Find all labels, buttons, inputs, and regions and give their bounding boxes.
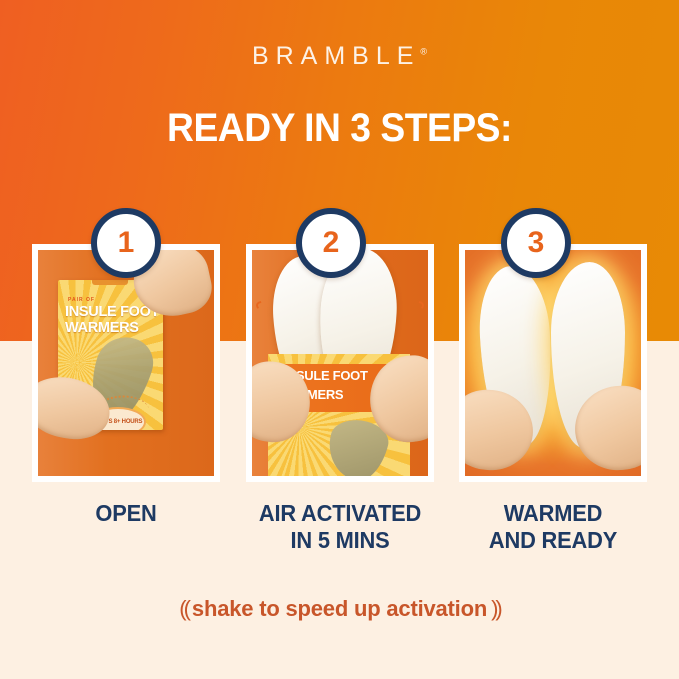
step-badge-3: 3 — [501, 208, 571, 278]
tagline-text: shake to speed up activation — [192, 596, 487, 621]
package-micro-text: PAIR OF — [68, 297, 95, 303]
shake-motion-lines-left-icon — [256, 290, 276, 332]
step-number-3: 3 — [528, 228, 545, 258]
step-1-scene: PAIR OF INSULE FOOT WARMERS LASTS 8+ HOU… — [38, 250, 214, 476]
package-title-line2: WARMERS — [65, 320, 139, 336]
step-3-scene — [465, 250, 641, 476]
package-hang-tab — [92, 280, 128, 285]
step-caption-1: OPEN — [37, 500, 216, 554]
tagline-close-paren: )) — [487, 596, 504, 621]
tagline-open-paren: (( — [175, 596, 192, 621]
step-number-2: 2 — [323, 228, 340, 258]
step-2-scene: INSULE FOOT WARMERS — [252, 250, 428, 476]
step-caption-2: AIR ACTIVATED IN 5 MINS — [250, 500, 429, 554]
step-panel-1: PAIR OF INSULE FOOT WARMERS LASTS 8+ HOU… — [32, 244, 220, 482]
step-caption-1-line1: OPEN — [37, 500, 216, 527]
step-caption-3: WARMED AND READY — [464, 500, 643, 554]
step-caption-2-line2: IN 5 MINS — [250, 527, 429, 554]
brand-name: BRAMBLE — [252, 42, 420, 70]
step-badge-1: 1 — [91, 208, 161, 278]
step-captions-row: OPEN AIR ACTIVATED IN 5 MINS WARMED AND … — [32, 500, 647, 554]
step-caption-3-line2: AND READY — [464, 527, 643, 554]
step-number-1: 1 — [118, 228, 135, 258]
step-caption-2-line1: AIR ACTIVATED — [250, 500, 429, 527]
steps-panel-row: PAIR OF INSULE FOOT WARMERS LASTS 8+ HOU… — [32, 244, 647, 482]
step-panel-3 — [459, 244, 647, 482]
registered-trademark-icon: ® — [420, 47, 427, 57]
brand-logo: BRAMBLE® — [0, 42, 679, 71]
tagline: ((shake to speed up activation)) — [0, 596, 679, 622]
page-title: READY IN 3 STEPS: — [24, 106, 655, 151]
step-badge-2: 2 — [296, 208, 366, 278]
step-caption-3-line1: WARMED — [464, 500, 643, 527]
step-panel-2: INSULE FOOT WARMERS — [246, 244, 434, 482]
shake-motion-lines-right-icon — [404, 290, 424, 332]
